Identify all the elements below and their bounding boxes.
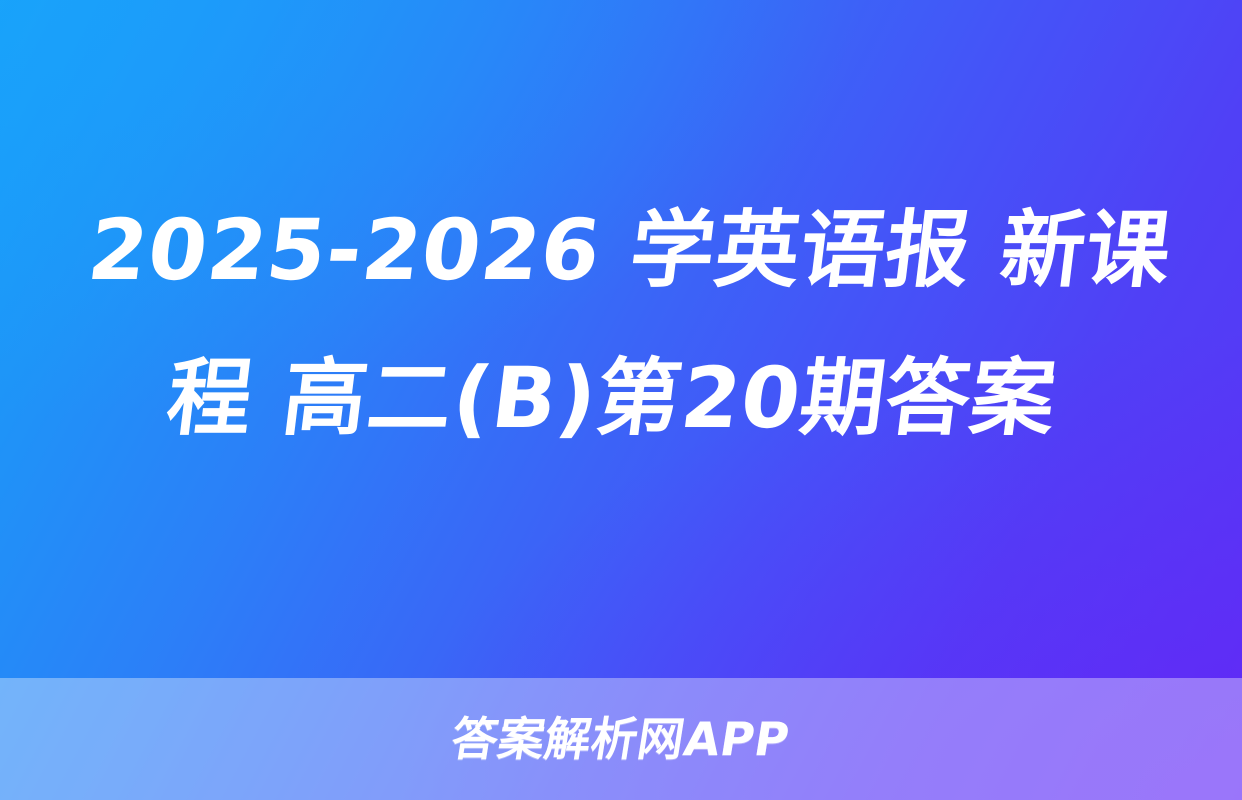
watermark-app-label: 答案解析网APP bbox=[449, 716, 793, 762]
page-title: 2025-2026 学英语报 新课程 高二(B)第20期答案 bbox=[44, 176, 1198, 472]
poster-canvas: 2025-2026 学英语报 新课程 高二(B)第20期答案 答案解析网APP bbox=[0, 0, 1242, 800]
poster-title-block: 2025-2026 学英语报 新课程 高二(B)第20期答案 bbox=[0, 176, 1242, 472]
watermark-band: 答案解析网APP bbox=[0, 678, 1242, 800]
